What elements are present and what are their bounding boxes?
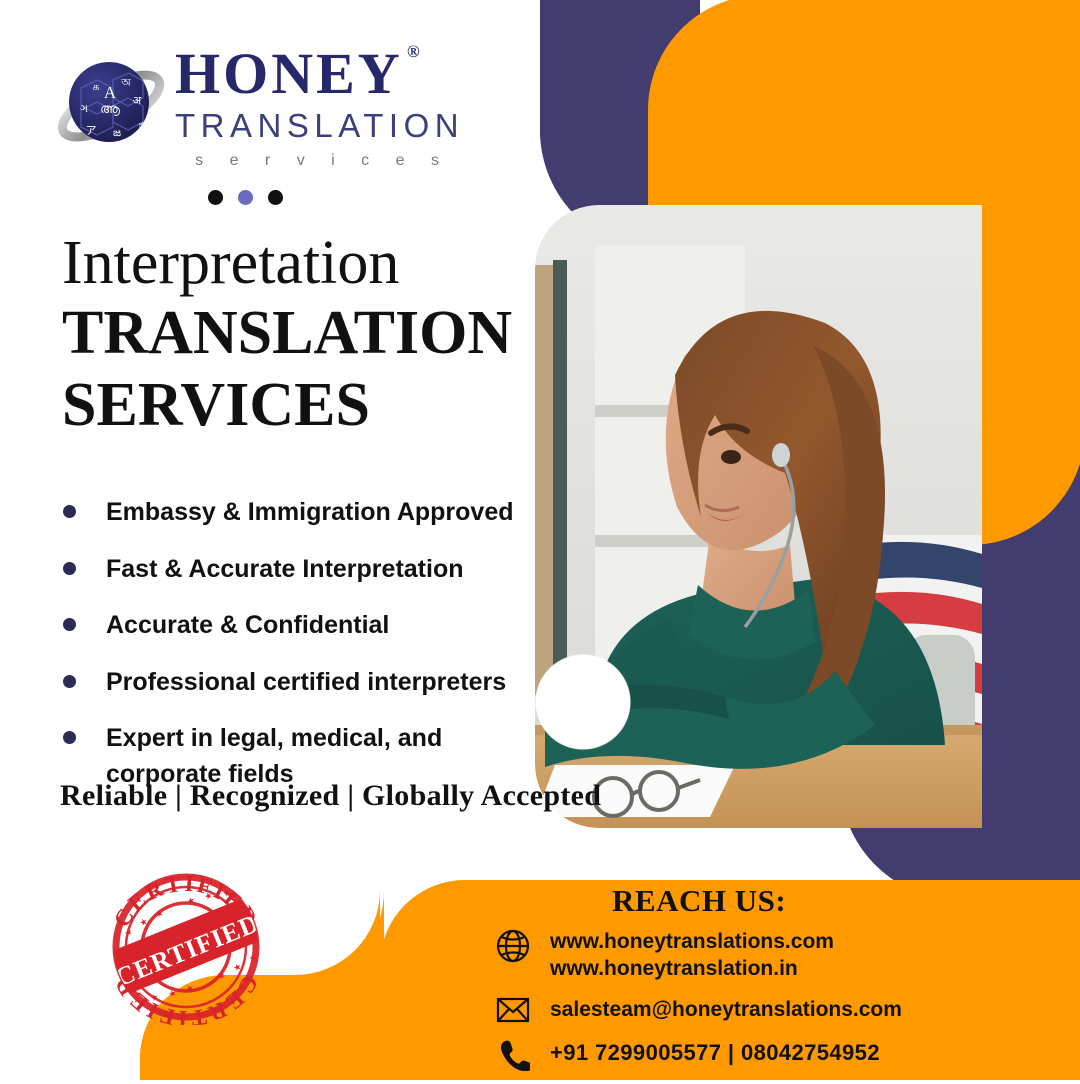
- feature-list: Embassy & Immigration Approved Fast & Ac…: [55, 495, 555, 813]
- reach-us-title: REACH US:: [612, 883, 786, 919]
- interpreter-photo: [535, 205, 982, 828]
- bullet-icon: [63, 505, 76, 518]
- list-item: Accurate & Confidential: [55, 608, 555, 644]
- registered-mark: ®: [407, 43, 423, 60]
- headline-script: Interpretation: [62, 232, 542, 295]
- svg-text:జ: జ: [113, 126, 121, 139]
- feature-text: Embassy & Immigration Approved: [106, 495, 514, 531]
- contact-block: www.honeytranslations.com www.honeytrans…: [492, 928, 1032, 1084]
- website-1[interactable]: www.honeytranslations.com: [550, 930, 834, 953]
- svg-text:★: ★: [123, 926, 134, 938]
- certified-stamp-icon: CERTIFIED CERTIFIED ★★★ ★★★ ★★★ ★★★ CERT…: [100, 867, 272, 1025]
- envelope-icon: [492, 996, 534, 1024]
- svg-text:★: ★: [184, 982, 195, 994]
- contact-row-phone[interactable]: +91 7299005577 | 08042754952: [492, 1037, 1032, 1071]
- bullet-icon: [63, 675, 76, 688]
- svg-text:ಕ: ಕ: [139, 118, 144, 131]
- svg-text:ગ: ગ: [80, 102, 88, 115]
- svg-text:க: க: [92, 80, 99, 93]
- list-item: Fast & Accurate Interpretation: [55, 552, 555, 588]
- email-text[interactable]: salesteam@honeytranslations.com: [550, 996, 902, 1023]
- list-item: Professional certified interpreters: [55, 665, 555, 701]
- tagline: Reliable | Recognized | Globally Accepte…: [60, 779, 601, 813]
- svg-text:अ: अ: [133, 94, 142, 107]
- feature-text: Professional certified interpreters: [106, 665, 506, 701]
- bullet-icon: [63, 618, 76, 631]
- phone-icon: [492, 1037, 534, 1071]
- headline-bold-1: TRANSLATION: [62, 301, 542, 367]
- list-item: Embassy & Immigration Approved: [55, 495, 555, 531]
- website-lines: www.honeytranslations.com www.honeytrans…: [550, 928, 834, 983]
- globe-icon: [492, 928, 534, 964]
- dot-3: [268, 190, 283, 205]
- headline-bold-2: SERVICES: [62, 373, 542, 439]
- svg-text:A: A: [104, 83, 117, 102]
- phone-text[interactable]: +91 7299005577 | 08042754952: [550, 1039, 880, 1068]
- contact-row-email[interactable]: salesteam@honeytranslations.com: [492, 996, 1032, 1024]
- brand-logo: கঅ ગആ अア జಕ A HONEY ® TRANSLATION s e r …: [55, 45, 415, 175]
- contact-row-website[interactable]: www.honeytranslations.com www.honeytrans…: [492, 928, 1032, 983]
- headline-block: Interpretation TRANSLATION SERVICES: [62, 232, 542, 439]
- logo-wordmark: HONEY ®: [175, 45, 403, 103]
- svg-text:ア: ア: [86, 124, 97, 137]
- feature-text: Fast & Accurate Interpretation: [106, 552, 463, 588]
- globe-languages-icon: கঅ ગആ अア జಕ A: [55, 50, 167, 162]
- dot-1: [208, 190, 223, 205]
- bullet-icon: [63, 731, 76, 744]
- logo-translation-text: TRANSLATION: [175, 105, 464, 146]
- svg-text:অ: অ: [120, 76, 131, 89]
- bullet-icon: [63, 562, 76, 575]
- feature-text: Accurate & Confidential: [106, 608, 389, 644]
- logo-honey-text: HONEY: [175, 41, 403, 106]
- svg-text:ആ: ആ: [100, 102, 120, 117]
- logo-services-text: s e r v i c e s: [175, 152, 464, 170]
- website-2[interactable]: www.honeytranslation.in: [550, 957, 798, 980]
- dot-2: [238, 190, 253, 205]
- dot-separator: [208, 190, 283, 205]
